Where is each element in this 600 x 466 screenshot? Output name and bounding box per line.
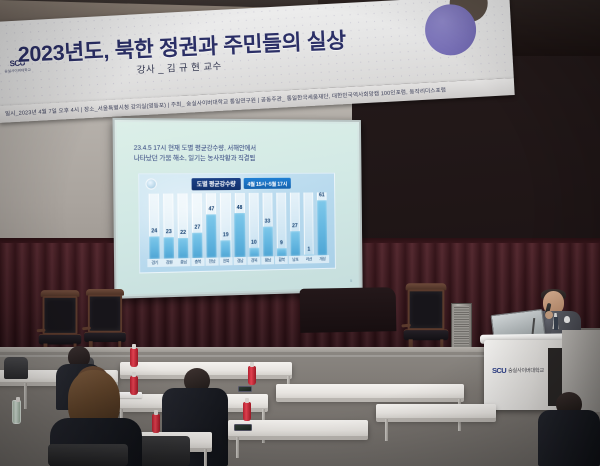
chart-x-tick-label: 경북 xyxy=(247,257,260,265)
chart-bar-column: 23 xyxy=(161,193,176,258)
audience-office-chair xyxy=(48,444,128,466)
chart-bar: 22 xyxy=(178,238,189,259)
chart-bar-column: 27 xyxy=(190,193,205,258)
chart-bar-value: 48 xyxy=(237,205,243,211)
chair-back xyxy=(88,295,122,333)
chart-x-tick-label: 경남 xyxy=(233,257,246,265)
desk-leg xyxy=(236,437,239,458)
name-plate xyxy=(238,386,252,392)
weather-agency-logo-icon xyxy=(145,178,156,189)
chart-bar-value: 27 xyxy=(194,225,200,231)
chart-period-badge: 4월 15시~5월 17시 xyxy=(243,178,291,189)
name-plate xyxy=(234,424,252,431)
chart-x-tick-label: 남포 xyxy=(289,256,302,264)
podium-logo-mark: SCU xyxy=(492,366,506,375)
chart-x-tick-label: 충북 xyxy=(191,258,205,266)
person-torso xyxy=(538,410,600,466)
chart-bar: 24 xyxy=(149,236,160,259)
chart-x-tick-label: 강원 xyxy=(162,258,176,266)
chart-x-tick-label: 경기 xyxy=(148,259,162,267)
audience-desk xyxy=(376,404,496,419)
chart-bar-column: 33 xyxy=(260,193,274,257)
presentation-slide: 23.4.5 17시 현재 도별 평균강수량, 서해안에서 나타났던 가뭄 해소… xyxy=(117,122,359,295)
chart-x-tick-label: 라선 xyxy=(302,255,315,263)
drink-bottle xyxy=(12,400,21,424)
chart-x-tick-label: 전북 xyxy=(219,257,233,265)
chart-bar-column: 47 xyxy=(204,193,219,258)
drink-bottle xyxy=(248,366,256,385)
chart-bar-column: 1 xyxy=(301,192,315,255)
chart-x-tick-label: 개성 xyxy=(316,255,329,263)
chart-bar-value: 10 xyxy=(251,240,257,246)
slide-page-marker: 5 xyxy=(350,278,352,283)
screen-base-drape xyxy=(300,287,397,333)
slide-headline-line2: 나타났던 가뭄 해소, 일기는 농사작황과 직결됨 xyxy=(134,154,333,164)
chart-x-tick-label: 황북 xyxy=(275,256,288,264)
chart-x-tick-label: 충남 xyxy=(177,258,191,266)
chart-bar: 61 xyxy=(317,200,327,255)
chart-bar-column: 9 xyxy=(274,193,288,257)
speaker-lapel-ribbon xyxy=(564,316,570,323)
speaker-hand xyxy=(545,311,553,319)
chart-x-tick-label: 황남 xyxy=(261,256,274,264)
chart-bar: 19 xyxy=(221,240,231,258)
chart-bar-track xyxy=(276,193,287,257)
chart-bar: 9 xyxy=(277,248,287,256)
lecture-hall-photo: SCU 숭실사이버대학교 2023년도, 북한 정권과 주민들의 실상 강사 _… xyxy=(0,0,600,466)
chart-bar: 33 xyxy=(263,226,273,256)
chart-bar: 48 xyxy=(235,213,246,257)
chart-x-axis: 경기강원충남충북전남전북경남경북황남황북남포라선개성 xyxy=(147,255,329,271)
chart-header: 도별 평균강수량 4월 15시~5월 17시 xyxy=(145,177,328,191)
chart-x-tick-label: 전남 xyxy=(205,257,219,265)
drink-bottle xyxy=(243,402,251,421)
person-far-right xyxy=(538,400,600,466)
speaker-tie xyxy=(554,317,558,330)
slide-headline-line1: 23.4.5 17시 현재 도별 평균강수량, 서해안에서 xyxy=(134,144,333,154)
audience-desk xyxy=(276,384,464,399)
chart-bar-column: 10 xyxy=(246,193,261,257)
chart-plot-area: 242322274719481033927161 xyxy=(147,192,329,259)
drink-bottle xyxy=(152,414,160,433)
chair-back xyxy=(408,289,445,330)
chart-bar-column: 27 xyxy=(288,193,302,256)
projection-screen: 23.4.5 17시 현재 도별 평균강수량, 서해안에서 나타났던 가뭄 해소… xyxy=(113,118,363,299)
chart-title: 도별 평균강수량 xyxy=(192,178,241,190)
chart-bar-value: 33 xyxy=(265,218,271,224)
chart-bar: 23 xyxy=(164,237,175,259)
chart-bar: 10 xyxy=(249,248,259,257)
chart-bar-value: 24 xyxy=(151,228,157,234)
audience-office-chair xyxy=(4,357,28,379)
chart-bar-column: 19 xyxy=(218,193,233,257)
chair-back xyxy=(43,296,78,335)
desk-leg xyxy=(204,449,207,466)
chart-bar-column: 48 xyxy=(232,193,247,257)
chart-bar-value: 61 xyxy=(319,193,325,199)
chart-bar: 27 xyxy=(192,233,203,258)
chart-bar-value: 27 xyxy=(292,224,298,230)
chart-bar-value: 19 xyxy=(223,232,229,238)
rainfall-bar-chart: 도별 평균강수량 4월 15시~5월 17시 24232227471948103… xyxy=(138,173,336,274)
slide-headline: 23.4.5 17시 현재 도별 평균강수량, 서해안에서 나타났던 가뭄 해소… xyxy=(134,144,333,164)
desk-leg xyxy=(385,419,388,441)
podium-logo-name: 숭실사이버대학교 xyxy=(508,367,544,374)
chart-bar-value: 22 xyxy=(180,230,186,236)
chart-bar-value: 23 xyxy=(166,229,172,235)
chart-bar-column: 22 xyxy=(176,193,191,258)
chart-bar: 27 xyxy=(290,231,300,256)
chart-bar: 47 xyxy=(206,214,217,257)
chart-bar-column: 61 xyxy=(315,192,329,255)
chart-bar-value: 47 xyxy=(208,206,214,212)
chart-bar-column: 24 xyxy=(147,194,162,259)
desk-leg xyxy=(24,383,27,409)
podium-logo: SCU 숭실사이버대학교 xyxy=(492,366,544,375)
chart-bar-value: 1 xyxy=(307,246,310,252)
chart-bar-value: 9 xyxy=(280,240,283,246)
drink-bottle xyxy=(130,348,138,367)
